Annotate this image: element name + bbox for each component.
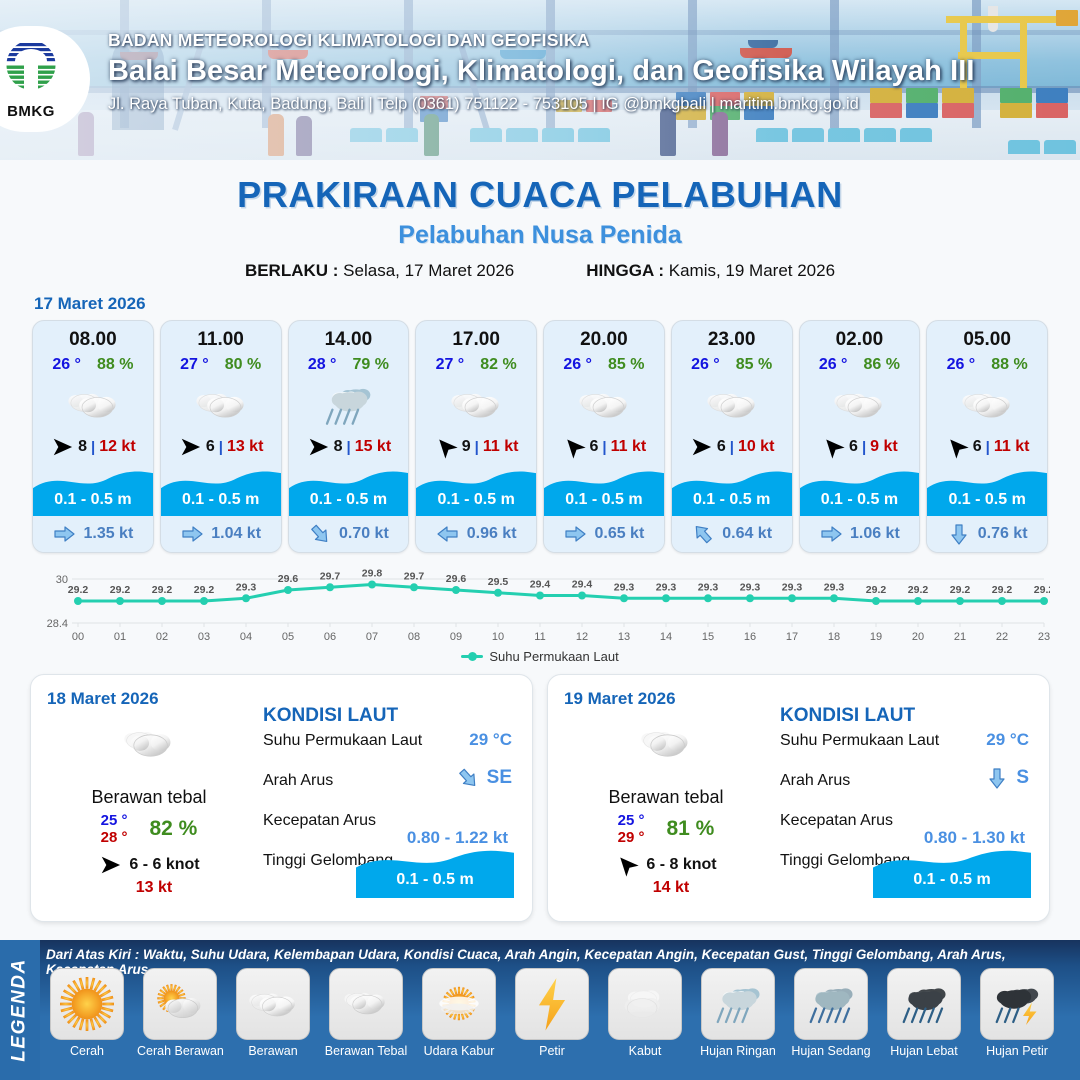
svg-text:28.4: 28.4 [47, 618, 68, 630]
card-temp-humidity: 26 ° 85 % [544, 356, 664, 374]
valid-from-value: Selasa, 17 Maret 2026 [343, 261, 514, 280]
current-direction-arrow-icon [303, 517, 337, 551]
card-wave: 0.1 - 0.5 m [927, 464, 1047, 516]
hourly-forecast-row: 08.00 26 ° 88 % 8 | 12 kt 0.1 - 0.5 m [0, 320, 1080, 553]
daily-wind-speed: 6 - 6 knot [129, 856, 199, 874]
page-title: PRAKIRAAN CUACA PELABUHAN [0, 174, 1080, 216]
current-direction-arrow-icon [52, 522, 76, 546]
legend-item: Hujan Petir [974, 968, 1060, 1058]
daily-temp-min: 25 ° [618, 812, 645, 829]
berawan-tebal-icon [339, 985, 393, 1023]
svg-text:29.3: 29.3 [614, 581, 635, 593]
card-wave: 0.1 - 0.5 m [289, 464, 409, 516]
berawan-icon [193, 385, 249, 425]
legend-side-tab: LEGENDA [0, 940, 40, 1080]
card-wind: 6 | 10 kt [672, 436, 792, 464]
card-wind-separator: | [862, 439, 866, 456]
card-temperature: 26 ° [563, 356, 592, 374]
legend-icon-box [701, 968, 775, 1040]
card-wind: 6 | 13 kt [161, 436, 281, 464]
hujan-sedang-icon [804, 977, 858, 1031]
daily-left-column: Berawan tebal 25 ° 28 ° 82 % 6 - 6 knot … [49, 715, 249, 897]
card-current-speed: 0.65 kt [594, 525, 644, 543]
card-wave: 0.1 - 0.5 m [161, 464, 281, 516]
card-wave-height: 0.1 - 0.5 m [927, 491, 1047, 509]
card-wind-separator: | [91, 439, 95, 456]
current-direction-arrow-icon [686, 517, 720, 551]
daily-weather-icon [566, 715, 766, 775]
legend-item-label: Hujan Petir [974, 1044, 1060, 1058]
svg-text:29.2: 29.2 [992, 584, 1013, 596]
card-wind-direction: 8 [334, 438, 343, 456]
card-wind-separator: | [219, 439, 223, 456]
card-wave-height: 0.1 - 0.5 m [416, 491, 536, 509]
valid-from: BERLAKU : Selasa, 17 Maret 2026 [245, 261, 514, 281]
card-wind-gust: 12 kt [99, 438, 135, 456]
card-wind-direction: 6 [717, 438, 726, 456]
current-direction-value: S [1016, 767, 1029, 789]
card-wind-separator: | [730, 439, 734, 456]
daily-temp-range: 25 ° 29 ° [618, 812, 645, 846]
valid-to: HINGGA : Kamis, 19 Maret 2026 [586, 261, 835, 281]
bmkg-logo-text: BMKG [0, 103, 68, 120]
card-wind: 8 | 15 kt [289, 436, 409, 464]
hourly-forecast-card[interactable]: 20.00 26 ° 85 % 6 | 11 kt 0.1 - 0.5 m [543, 320, 665, 553]
daily-condition: Berawan tebal [566, 787, 766, 808]
hujan-ringan-icon [320, 377, 376, 433]
current-direction-arrow-icon [563, 522, 587, 546]
daily-humidity: 82 % [149, 817, 197, 841]
svg-text:09: 09 [450, 631, 462, 643]
card-wave-height: 0.1 - 0.5 m [800, 491, 920, 509]
hourly-forecast-card[interactable]: 14.00 28 ° 79 % 8 | 15 kt 0.1 - 0 [288, 320, 410, 553]
svg-text:05: 05 [282, 631, 294, 643]
legend-item-label: Hujan Ringan [695, 1044, 781, 1058]
daily-humidity: 81 % [666, 817, 714, 841]
legend-icon-box [980, 968, 1054, 1040]
current-direction-arrow-icon [180, 522, 204, 546]
card-temperature: 26 ° [819, 356, 848, 374]
card-weather-icon [33, 376, 153, 434]
svg-text:29.2: 29.2 [194, 584, 215, 596]
card-temperature: 26 ° [52, 356, 81, 374]
svg-text:29.2: 29.2 [152, 584, 173, 596]
page-subtitle: Pelabuhan Nusa Penida [0, 221, 1080, 250]
card-wave: 0.1 - 0.5 m [33, 464, 153, 516]
svg-text:21: 21 [954, 631, 966, 643]
card-temperature: 28 ° [308, 356, 337, 374]
card-current-speed: 0.64 kt [722, 525, 772, 543]
svg-text:20: 20 [912, 631, 924, 643]
card-wave-height: 0.1 - 0.5 m [289, 491, 409, 509]
daily-wave-graphic: 0.1 - 0.5 m [356, 842, 514, 898]
title-block: PRAKIRAAN CUACA PELABUHAN Pelabuhan Nusa… [0, 174, 1080, 281]
wind-direction-arrow-icon [307, 435, 329, 459]
card-temperature: 26 ° [947, 356, 976, 374]
card-wind-gust: 10 kt [738, 438, 774, 456]
card-wave-height: 0.1 - 0.5 m [672, 491, 792, 509]
validity-row: BERLAKU : Selasa, 17 Maret 2026 HINGGA :… [0, 261, 1080, 281]
current-speed-label: Kecepatan Arus [263, 812, 376, 829]
hujan-lebat-icon [897, 977, 951, 1031]
berawan-icon [448, 385, 504, 425]
office-contact: Jl. Raya Tuban, Kuta, Badung, Bali | Tel… [108, 95, 975, 114]
current-direction-label: Arah Arus [263, 772, 333, 789]
chart-legend-marker-icon [461, 655, 483, 658]
card-current: 0.70 kt [289, 516, 409, 552]
card-humidity: 79 % [352, 356, 388, 374]
svg-text:10: 10 [492, 631, 504, 643]
svg-text:29.3: 29.3 [824, 581, 845, 593]
svg-text:29.3: 29.3 [740, 581, 761, 593]
wind-direction-arrow-icon [817, 431, 850, 463]
svg-text:12: 12 [576, 631, 588, 643]
card-humidity: 82 % [480, 356, 516, 374]
hourly-date-label: 17 Maret 2026 [34, 294, 1080, 314]
current-direction-value-group: SE [456, 766, 512, 790]
card-temp-humidity: 27 ° 80 % [161, 356, 281, 374]
card-humidity: 80 % [225, 356, 261, 374]
legend-item-label: Cerah Berawan [137, 1044, 223, 1058]
current-speed-label: Kecepatan Arus [780, 812, 893, 829]
bmkg-emblem-icon [0, 39, 62, 97]
sst-value: 29 °C [986, 730, 1029, 750]
berawan-icon [959, 385, 1015, 425]
current-direction-value: SE [487, 767, 512, 789]
card-wind-direction: 6 [849, 438, 858, 456]
card-wind-gust: 13 kt [227, 438, 263, 456]
daily-temp-range: 25 ° 28 ° [101, 812, 128, 846]
svg-text:19: 19 [870, 631, 882, 643]
card-humidity: 88 % [97, 356, 133, 374]
card-wind-gust: 11 kt [483, 438, 519, 456]
svg-text:29.2: 29.2 [1034, 584, 1050, 596]
svg-text:02: 02 [156, 631, 168, 643]
legend-item-label: Hujan Lebat [881, 1044, 967, 1058]
daily-wind: 6 - 6 knot [49, 854, 249, 876]
wind-direction-arrow-icon [99, 853, 121, 877]
card-wind: 8 | 12 kt [33, 436, 153, 464]
wind-direction-arrow-icon [690, 435, 712, 459]
valid-to-value: Kamis, 19 Maret 2026 [669, 261, 835, 280]
svg-text:29.7: 29.7 [404, 570, 425, 582]
svg-text:23: 23 [1038, 631, 1050, 643]
hujan-ringan-icon [711, 977, 765, 1031]
svg-text:29.2: 29.2 [950, 584, 971, 596]
card-current-speed: 1.04 kt [211, 525, 261, 543]
sst-label: Suhu Permukaan Laut [780, 732, 939, 749]
card-wind-gust: 9 kt [870, 438, 898, 456]
card-current: 0.65 kt [544, 516, 664, 552]
wind-direction-arrow-icon [429, 431, 462, 463]
berawan-icon [704, 385, 760, 425]
card-weather-icon [161, 376, 281, 434]
card-time: 02.00 [800, 321, 920, 351]
current-direction-label: Arah Arus [780, 772, 850, 789]
card-wind-gust: 11 kt [611, 438, 647, 456]
svg-text:11: 11 [534, 631, 545, 643]
card-wind-direction: 6 [206, 438, 215, 456]
berawan-tebal-icon [118, 723, 180, 766]
legend-item: Hujan Sedang [788, 968, 874, 1058]
chart-legend-label: Suhu Permukaan Laut [489, 649, 618, 664]
card-weather-icon [672, 376, 792, 434]
card-time: 23.00 [672, 321, 792, 351]
legend-side-title: LEGENDA [9, 958, 31, 1061]
legend-item: Hujan Lebat [881, 968, 967, 1058]
card-wind-separator: | [602, 439, 606, 456]
card-wind-gust: 11 kt [994, 438, 1030, 456]
card-wind: 9 | 11 kt [416, 436, 536, 464]
wind-direction-arrow-icon [611, 849, 644, 881]
daily-condition: Berawan tebal [49, 787, 249, 808]
svg-text:29.5: 29.5 [488, 576, 509, 588]
legend-item-label: Kabut [602, 1044, 688, 1058]
svg-text:29.4: 29.4 [530, 579, 551, 591]
card-wave: 0.1 - 0.5 m [800, 464, 920, 516]
daily-forecast-panel[interactable]: 19 Maret 2026 Berawan tebal 25 ° 29 ° 81… [547, 674, 1050, 922]
card-current-speed: 1.35 kt [83, 525, 133, 543]
daily-sea-conditions: KONDISI LAUT Suhu Permukaan Laut 29 °C A… [263, 705, 518, 892]
svg-text:29.7: 29.7 [320, 570, 341, 582]
card-weather-icon [544, 376, 664, 434]
valid-to-label: HINGGA : [586, 261, 664, 280]
daily-temp-max: 28 ° [101, 829, 128, 846]
svg-text:29.2: 29.2 [866, 584, 887, 596]
svg-text:29.2: 29.2 [68, 584, 89, 596]
berawan-icon [576, 385, 632, 425]
legend-item: Hujan Ringan [695, 968, 781, 1058]
berawan-icon [831, 385, 887, 425]
daily-sea-conditions: KONDISI LAUT Suhu Permukaan Laut 29 °C A… [780, 705, 1035, 892]
wave-height-row: Tinggi Gelombang 0.1 - 0.5 m [780, 852, 1035, 892]
card-wind-separator: | [475, 439, 479, 456]
kabut-icon [618, 985, 672, 1024]
card-temp-humidity: 26 ° 85 % [672, 356, 792, 374]
svg-text:01: 01 [114, 631, 126, 643]
legend-icon-box [422, 968, 496, 1040]
daily-forecast-panel[interactable]: 18 Maret 2026 Berawan tebal 25 ° 28 ° 82… [30, 674, 533, 922]
daily-left-column: Berawan tebal 25 ° 29 ° 81 % 6 - 8 knot … [566, 715, 766, 897]
daily-temp-humidity: 25 ° 29 ° 81 % [566, 812, 766, 846]
valid-from-label: BERLAKU : [245, 261, 339, 280]
svg-text:29.2: 29.2 [110, 584, 131, 596]
legend-items: Cerah Cerah Berawan Berawan Berawan Teba… [44, 968, 1076, 1058]
legend-item-label: Petir [509, 1044, 595, 1058]
hourly-forecast-card[interactable]: 17.00 27 ° 82 % 9 | 11 kt 0.1 - 0.5 m [415, 320, 537, 553]
current-direction-arrow-icon [947, 522, 971, 546]
legend-item: Petir [509, 968, 595, 1058]
svg-text:29.3: 29.3 [698, 581, 719, 593]
hourly-forecast-card[interactable]: 23.00 26 ° 85 % 6 | 10 kt 0.1 - 0.5 m [671, 320, 793, 553]
current-direction-arrow-icon [819, 522, 843, 546]
legend-icon-box [236, 968, 310, 1040]
card-current-speed: 0.96 kt [467, 525, 517, 543]
current-direction-value-group: S [985, 766, 1029, 790]
card-wind-gust: 15 kt [355, 438, 391, 456]
svg-text:04: 04 [240, 631, 252, 643]
card-weather-icon [800, 376, 920, 434]
daily-temp-max: 29 ° [618, 829, 645, 846]
card-temperature: 27 ° [436, 356, 465, 374]
sea-conditions-title: KONDISI LAUT [780, 705, 1035, 727]
svg-text:29.6: 29.6 [446, 573, 467, 585]
svg-text:30: 30 [56, 574, 68, 586]
daily-wind-speed: 6 - 8 knot [646, 856, 716, 874]
daily-wave-height: 0.1 - 0.5 m [873, 871, 1031, 889]
legend-item: Cerah [44, 968, 130, 1058]
legend-icon-box [50, 968, 124, 1040]
card-wind: 6 | 9 kt [800, 436, 920, 464]
legend-item: Berawan [230, 968, 316, 1058]
hourly-forecast-card[interactable]: 05.00 26 ° 88 % 6 | 11 kt 0.1 - 0.5 m [926, 320, 1048, 553]
card-current: 0.76 kt [927, 516, 1047, 552]
sst-value: 29 °C [469, 730, 512, 750]
svg-text:15: 15 [702, 631, 714, 643]
svg-text:06: 06 [324, 631, 336, 643]
card-wave: 0.1 - 0.5 m [672, 464, 792, 516]
petir-icon [525, 976, 579, 1033]
legend-item-label: Udara Kabur [416, 1044, 502, 1058]
sea-conditions-title: KONDISI LAUT [263, 705, 518, 727]
hourly-forecast-card[interactable]: 02.00 26 ° 86 % 6 | 9 kt 0.1 - 0.5 m [799, 320, 921, 553]
current-direction-arrow-icon [451, 761, 485, 795]
svg-text:29.3: 29.3 [782, 581, 803, 593]
svg-text:22: 22 [996, 631, 1008, 643]
legend-icon-box [608, 968, 682, 1040]
legend-item: Cerah Berawan [137, 968, 223, 1058]
card-weather-icon [927, 376, 1047, 434]
cerah-berawan-icon [153, 984, 207, 1024]
card-temp-humidity: 26 ° 88 % [927, 356, 1047, 374]
page-header: BMKG BADAN METEOROLOGI KLIMATOLOGI DAN G… [0, 0, 1080, 160]
svg-text:14: 14 [660, 631, 672, 643]
card-time: 14.00 [289, 321, 409, 351]
card-current: 1.04 kt [161, 516, 281, 552]
agency-name: BADAN METEOROLOGI KLIMATOLOGI DAN GEOFIS… [108, 30, 975, 51]
daily-gust: 14 kt [576, 879, 766, 897]
card-humidity: 85 % [736, 356, 772, 374]
legend-item-label: Berawan [230, 1044, 316, 1058]
card-wind-direction: 6 [973, 438, 982, 456]
card-current: 1.06 kt [800, 516, 920, 552]
card-temperature: 26 ° [691, 356, 720, 374]
card-humidity: 88 % [991, 356, 1027, 374]
card-wind-direction: 6 [590, 438, 599, 456]
card-wave: 0.1 - 0.5 m [544, 464, 664, 516]
sst-chart-svg: 3028.40001020304050607080910111213141516… [30, 565, 1050, 645]
card-current: 0.64 kt [672, 516, 792, 552]
udara-kabur-icon [432, 983, 486, 1024]
current-direction-arrow-icon [985, 766, 1009, 790]
daily-wave-height: 0.1 - 0.5 m [356, 871, 514, 889]
berawan-icon [246, 985, 300, 1024]
legend-icon-box [329, 968, 403, 1040]
wave-graphic-icon [873, 842, 1031, 898]
card-time: 05.00 [927, 321, 1047, 351]
berawan-icon [65, 385, 121, 425]
daily-gust: 13 kt [59, 879, 249, 897]
card-wind-separator: | [986, 439, 990, 456]
berawan-tebal-icon [635, 723, 697, 766]
svg-text:29.3: 29.3 [236, 581, 257, 593]
wave-height-row: Tinggi Gelombang 0.1 - 0.5 m [263, 852, 518, 892]
daily-wave-graphic: 0.1 - 0.5 m [873, 842, 1031, 898]
hujan-petir-icon [990, 977, 1044, 1031]
svg-text:16: 16 [744, 631, 756, 643]
card-weather-icon [289, 376, 409, 434]
daily-wind: 6 - 8 knot [566, 854, 766, 876]
card-wave-height: 0.1 - 0.5 m [544, 491, 664, 509]
card-temp-humidity: 28 ° 79 % [289, 356, 409, 374]
card-temperature: 27 ° [180, 356, 209, 374]
daily-temp-min: 25 ° [101, 812, 128, 829]
card-wind-direction: 8 [78, 438, 87, 456]
card-current-speed: 0.76 kt [978, 525, 1028, 543]
svg-text:17: 17 [786, 631, 798, 643]
office-name: Balai Besar Meteorologi, Klimatologi, da… [108, 55, 975, 88]
legend-icon-box [887, 968, 961, 1040]
card-humidity: 86 % [863, 356, 899, 374]
wave-graphic-icon [356, 842, 514, 898]
card-wind-direction: 9 [462, 438, 471, 456]
svg-text:13: 13 [618, 631, 630, 643]
daily-weather-icon [49, 715, 249, 775]
sst-chart: 3028.40001020304050607080910111213141516… [30, 565, 1050, 645]
svg-text:29.3: 29.3 [656, 581, 677, 593]
legend-bar: LEGENDA Dari Atas Kiri : Waktu, Suhu Uda… [0, 940, 1080, 1080]
legend-item-label: Cerah [44, 1044, 130, 1058]
legend-item-label: Berawan Tebal [323, 1044, 409, 1058]
svg-text:29.6: 29.6 [278, 573, 299, 585]
svg-text:18: 18 [828, 631, 840, 643]
card-current: 0.96 kt [416, 516, 536, 552]
card-time: 20.00 [544, 321, 664, 351]
legend-icon-box [143, 968, 217, 1040]
legend-item: Berawan Tebal [323, 968, 409, 1058]
cerah-icon [60, 977, 114, 1031]
chart-legend: Suhu Permukaan Laut [0, 649, 1080, 664]
svg-text:00: 00 [72, 631, 84, 643]
card-current-speed: 1.06 kt [850, 525, 900, 543]
legend-item: Udara Kabur [416, 968, 502, 1058]
card-time: 08.00 [33, 321, 153, 351]
daily-temp-humidity: 25 ° 28 ° 82 % [49, 812, 249, 846]
legend-icon-box [794, 968, 868, 1040]
card-wave: 0.1 - 0.5 m [416, 464, 536, 516]
card-wind: 6 | 11 kt [927, 436, 1047, 464]
card-time: 11.00 [161, 321, 281, 351]
wind-direction-arrow-icon [557, 431, 590, 463]
hourly-forecast-card[interactable]: 11.00 27 ° 80 % 6 | 13 kt 0.1 - 0.5 m [160, 320, 282, 553]
legend-item-label: Hujan Sedang [788, 1044, 874, 1058]
current-direction-arrow-icon [436, 522, 460, 546]
svg-text:29.8: 29.8 [362, 568, 383, 580]
daily-forecast-row: 18 Maret 2026 Berawan tebal 25 ° 28 ° 82… [0, 664, 1080, 922]
svg-text:03: 03 [198, 631, 210, 643]
svg-text:29.2: 29.2 [908, 584, 929, 596]
wind-direction-arrow-icon [940, 431, 973, 463]
card-wind: 6 | 11 kt [544, 436, 664, 464]
card-weather-icon [416, 376, 536, 434]
card-temp-humidity: 27 ° 82 % [416, 356, 536, 374]
sst-label: Suhu Permukaan Laut [263, 732, 422, 749]
card-temp-humidity: 26 ° 86 % [800, 356, 920, 374]
card-wave-height: 0.1 - 0.5 m [33, 491, 153, 509]
card-humidity: 85 % [608, 356, 644, 374]
hourly-forecast-card[interactable]: 08.00 26 ° 88 % 8 | 12 kt 0.1 - 0.5 m [32, 320, 154, 553]
wind-direction-arrow-icon [179, 435, 201, 459]
